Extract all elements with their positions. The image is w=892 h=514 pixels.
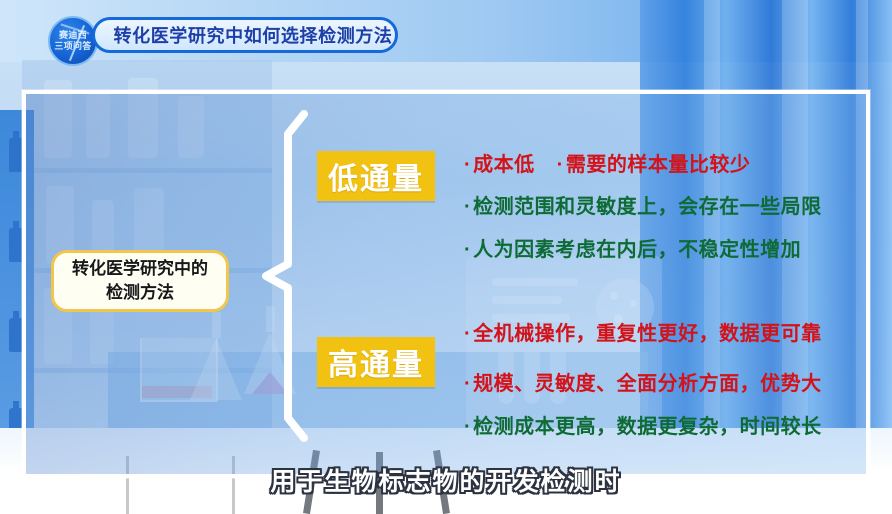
bullet-marker: · xyxy=(464,196,471,218)
background-bottle xyxy=(9,228,23,262)
background-bottle xyxy=(9,318,23,352)
category-chip-low-throughput-label: 低通量 xyxy=(328,154,424,198)
bullet-high-3: ·检测成本更高，数据更复杂，时间较长 xyxy=(464,410,822,439)
bullet-low-2: ·检测范围和灵敏度上，会存在一些局限 xyxy=(464,190,822,219)
root-concept-box: 转化医学研究中的 检测方法 xyxy=(51,250,229,312)
logo-text-line2: 三项问答 xyxy=(54,41,91,52)
bullet-high-1: ·全机械操作，重复性更好，数据更可靠 xyxy=(464,317,822,346)
channel-logo-icon: 赛迪西 三项问答 xyxy=(48,16,98,66)
category-chip-low-throughput[interactable]: 低通量 xyxy=(317,151,435,201)
root-label-line2: 检测方法 xyxy=(106,283,174,302)
bullet-high-2: ·规模、灵敏度、全面分析方面，优势大 xyxy=(464,367,822,396)
video-frame: 赛迪西 三项问答 转化医学研究中如何选择检测方法 转化医学研究中的 检测方法 低… xyxy=(0,0,892,514)
bullet-marker: · xyxy=(464,239,471,261)
bullet-text: 检测范围和灵敏度上，会存在一些局限 xyxy=(473,196,822,218)
bullet-text: 成本低 xyxy=(473,154,535,176)
curly-brace-icon xyxy=(256,108,320,444)
subtitle-caption: 用于生物标志物的开发检测时 xyxy=(0,462,892,498)
bullet-low-1: ·成本低·需要的样本量比较少 xyxy=(464,148,750,177)
bullet-marker: · xyxy=(557,154,564,176)
page-title: 转化医学研究中如何选择检测方法 xyxy=(98,22,393,48)
bullet-text: 需要的样本量比较少 xyxy=(566,154,751,176)
bullet-text: 规模、灵敏度、全面分析方面，优势大 xyxy=(473,373,822,395)
bullet-low-3: ·人为因素考虑在内后，不稳定性增加 xyxy=(464,233,801,262)
bullet-marker: · xyxy=(464,373,471,395)
bullet-text: 检测成本更高，数据更复杂，时间较长 xyxy=(473,416,822,438)
logo-text-line1: 赛迪西 xyxy=(59,30,87,41)
root-label-line1: 转化医学研究中的 xyxy=(72,259,208,278)
bullet-marker: · xyxy=(464,154,471,176)
bullet-text: 人为因素考虑在内后，不稳定性增加 xyxy=(473,239,801,261)
bullet-text: 全机械操作，重复性更好，数据更可靠 xyxy=(473,323,822,345)
background-bottle xyxy=(9,138,23,172)
header-title-pill: 转化医学研究中如何选择检测方法 xyxy=(92,17,398,53)
bullet-marker: · xyxy=(464,323,471,345)
category-chip-high-throughput-label: 高通量 xyxy=(328,340,424,384)
bullet-marker: · xyxy=(464,416,471,438)
category-chip-high-throughput[interactable]: 高通量 xyxy=(317,337,435,387)
